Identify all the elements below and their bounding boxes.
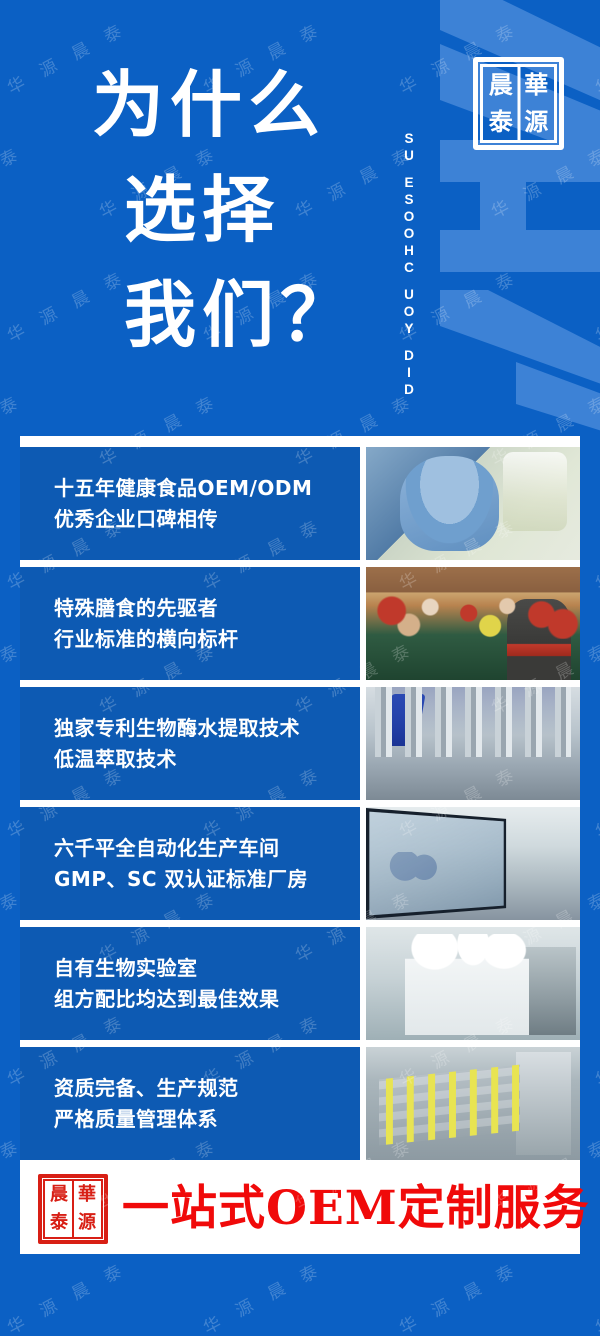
feature-line-2: 严格质量管理体系 [54, 1104, 360, 1135]
vertical-caption-letter: O [404, 303, 415, 320]
vertical-caption-letter: D [404, 347, 414, 364]
footer-seal-char-3: 泰 [45, 1209, 73, 1237]
feature-row: 独家专利生物酶水提取技术低温萃取技术 [20, 687, 580, 800]
feature-photo-surface [366, 1047, 580, 1160]
footer-slogan: 一站式OEM定制服务 [122, 1181, 590, 1237]
feature-photo-surface [366, 447, 580, 560]
feature-text-panel: 十五年健康食品OEM/ODM优秀企业口碑相传 [20, 447, 360, 560]
seal-char-4: 源 [519, 104, 555, 141]
feature-line-2: GMP、SC 双认证标准厂房 [54, 864, 360, 895]
feature-list: 十五年健康食品OEM/ODM优秀企业口碑相传特殊膳食的先驱者行业标准的横向标杆独… [20, 447, 580, 1167]
vertical-english-caption: DIDYOUCHOOSEUS [396, 38, 422, 398]
seal-char-2: 華 [519, 67, 555, 104]
feature-text-panel: 独家专利生物酶水提取技术低温萃取技术 [20, 687, 360, 800]
watermark-text: 华 源 晨 泰 [590, 1006, 600, 1091]
feature-line-1: 特殊膳食的先驱者 [54, 593, 360, 624]
footer-seal-char-1: 晨 [45, 1181, 73, 1209]
feature-row: 十五年健康食品OEM/ODM优秀企业口碑相传 [20, 447, 580, 560]
feature-line-1: 独家专利生物酶水提取技术 [54, 713, 360, 744]
feature-row: 资质完备、生产规范严格质量管理体系 [20, 1047, 580, 1160]
vertical-caption-letter: O [404, 225, 415, 242]
feature-text-panel: 资质完备、生产规范严格质量管理体系 [20, 1047, 360, 1160]
vertical-caption-letter: U [404, 147, 414, 164]
footer-seal-char-4: 源 [73, 1209, 101, 1237]
feature-line-2: 行业标准的横向标杆 [54, 624, 360, 655]
feature-photo [366, 447, 580, 560]
watermark-text: 华 源 晨 泰 [590, 758, 600, 843]
watermark-text: 华 源 晨 泰 [2, 1254, 131, 1336]
poster-title: 为什么 选择 我们？ [92, 52, 358, 367]
feature-photo-surface [366, 927, 580, 1040]
footer-banner: 晨 華 泰 源 一站式OEM定制服务 [20, 1168, 580, 1250]
feature-text-panel: 特殊膳食的先驱者行业标准的横向标杆 [20, 567, 360, 680]
feature-photo [366, 927, 580, 1040]
feature-photo-surface [366, 687, 580, 800]
vertical-caption-letter: E [404, 174, 413, 191]
poster-root: 为什么 选择 我们？ DIDYOUCHOOSEUS 晨 華 泰 源 十五年健康食… [0, 0, 600, 1336]
watermark-text: 华 源 晨 泰 [394, 1254, 523, 1336]
feature-row: 六千平全自动化生产车间GMP、SC 双认证标准厂房 [20, 807, 580, 920]
vertical-caption-letter: U [404, 286, 414, 303]
feature-text-panel: 六千平全自动化生产车间GMP、SC 双认证标准厂房 [20, 807, 360, 920]
feature-photo [366, 807, 580, 920]
vertical-caption-letter: H [404, 242, 414, 259]
feature-row: 自有生物实验室组方配比均达到最佳效果 [20, 927, 580, 1040]
feature-line-2: 组方配比均达到最佳效果 [54, 984, 360, 1015]
feature-line-2: 优秀企业口碑相传 [54, 504, 360, 535]
title-line-1: 为什么 [92, 52, 358, 157]
title-line-2: 选择 [92, 157, 358, 262]
vertical-caption-letter: O [404, 208, 415, 225]
feature-photo [366, 567, 580, 680]
feature-line-2: 低温萃取技术 [54, 744, 360, 775]
footer-seal-char-2: 華 [73, 1181, 101, 1209]
feature-line-1: 六千平全自动化生产车间 [54, 833, 360, 864]
seal-char-1: 晨 [483, 67, 519, 104]
feature-photo-surface [366, 807, 580, 920]
vertical-caption-letter: C [404, 259, 414, 276]
vertical-caption-letter: S [404, 130, 413, 147]
feature-photo-surface [366, 567, 580, 680]
vertical-caption-letter: I [407, 364, 411, 381]
seal-char-3: 泰 [483, 104, 519, 141]
vertical-caption-letter: Y [404, 320, 413, 337]
brand-seal-icon: 晨 華 泰 源 [473, 57, 564, 150]
watermark-text: 华 源 晨 泰 [590, 510, 600, 595]
feature-row: 特殊膳食的先驱者行业标准的横向标杆 [20, 567, 580, 680]
feature-photo [366, 1047, 580, 1160]
feature-photo [366, 687, 580, 800]
feature-line-1: 十五年健康食品OEM/ODM [54, 473, 360, 504]
watermark-text: 华 源 晨 泰 [590, 1254, 600, 1336]
feature-line-1: 资质完备、生产规范 [54, 1073, 360, 1104]
vertical-caption-letter: S [404, 191, 413, 208]
watermark-text: 华 源 晨 泰 [198, 1254, 327, 1336]
footer-seal-icon: 晨 華 泰 源 [38, 1174, 108, 1244]
poster-header: 为什么 选择 我们？ DIDYOUCHOOSEUS 晨 華 泰 源 [0, 0, 600, 436]
vertical-caption-letter: D [404, 381, 414, 398]
title-line-3: 我们？ [92, 262, 358, 367]
feature-line-1: 自有生物实验室 [54, 953, 360, 984]
feature-text-panel: 自有生物实验室组方配比均达到最佳效果 [20, 927, 360, 1040]
